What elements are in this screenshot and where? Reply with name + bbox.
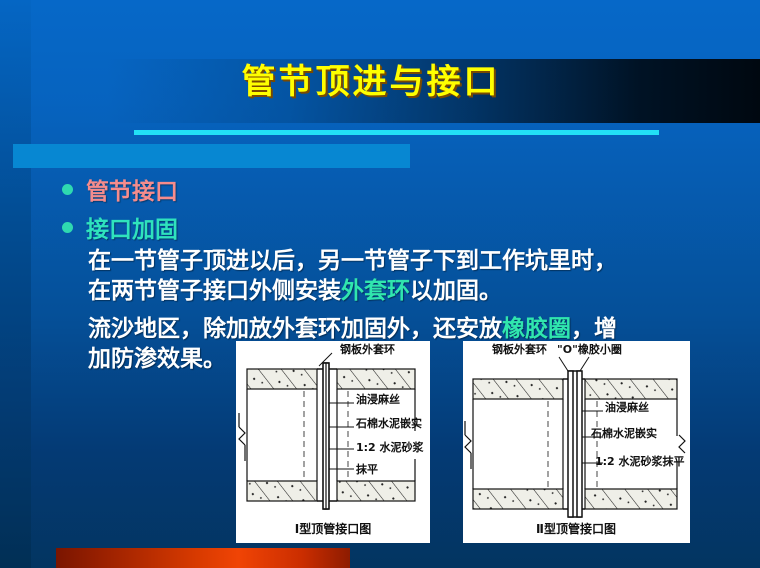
diagram-type-2-svg: 钢板外套环 "O"橡胶小圈 油浸麻丝 石棉水泥嵌实 1:2 水泥砂浆抹平 Ⅱ型顶… xyxy=(463,341,690,543)
title-underline-rule xyxy=(134,130,659,135)
label-asbestos-cement-caulk: 石棉水泥嵌实 xyxy=(590,426,657,440)
text-run: 加防渗效果。 xyxy=(88,346,226,372)
label-troweled-flat: 抹平 xyxy=(356,462,378,476)
bullet-label: 管节接口 xyxy=(86,172,178,206)
highlighted-term-outer-sleeve-ring: 外套环 xyxy=(341,278,410,304)
text-run: 在一节管子顶进以后，另一节管子下到工作坑里时， xyxy=(88,248,617,274)
bullet-item-joint-reinforcement: 接口加固 xyxy=(62,210,178,244)
paragraph-line: 流沙地区，除加放外套环加固外，还安放橡胶圈，增 xyxy=(88,314,617,344)
disc-bullet-icon xyxy=(62,184,73,195)
text-run: 流沙地区，除加放外套环加固外，还安放 xyxy=(88,316,502,342)
highlighted-term-rubber-ring: 橡胶圈 xyxy=(502,316,571,342)
concrete-pipe-wall-upper-left xyxy=(473,379,563,399)
concrete-pipe-wall-lower-left xyxy=(247,481,317,501)
presentation-slide: 管节顶进与接口 管节接口 接口加固 在一节管子顶进以后，另一节管子下到工作坑里时… xyxy=(0,0,760,568)
concrete-pipe-wall-upper-left xyxy=(247,369,317,389)
accent-bar xyxy=(13,144,410,168)
bullet-label: 接口加固 xyxy=(86,210,178,244)
paragraph-line: 在两节管子接口外侧安装外套环以加固。 xyxy=(88,276,617,306)
label-cement-mortar-troweled: 1:2 水泥砂浆抹平 xyxy=(595,454,685,468)
concrete-pipe-wall-upper-right xyxy=(585,379,677,399)
label-cement-mortar: 1:2 水泥砂浆 xyxy=(356,440,425,454)
concrete-pipe-wall-lower-left xyxy=(473,489,563,509)
label-steel-sleeve-ring: 钢板外套环 xyxy=(340,342,395,356)
diagram-type-1-svg: 钢板外套环 油浸麻丝 石棉水泥嵌实 1:2 水泥砂浆 抹平 Ⅰ型顶管接口图 xyxy=(236,341,430,543)
concrete-pipe-wall-lower-right xyxy=(585,489,677,509)
text-run: 在两节管子接口外侧安装 xyxy=(88,278,341,304)
body-paragraph-1: 在一节管子顶进以后，另一节管子下到工作坑里时， 在两节管子接口外侧安装外套环以加… xyxy=(88,246,617,306)
label-oil-soaked-hemp: 油浸麻丝 xyxy=(605,400,649,414)
label-asbestos-cement-caulk: 石棉水泥嵌实 xyxy=(355,416,422,430)
disc-bullet-icon xyxy=(62,222,73,233)
steel-sleeve-ring-shape xyxy=(323,363,329,509)
bullet-item-pipe-joint: 管节接口 xyxy=(62,172,178,206)
break-line-symbol-right xyxy=(679,435,685,453)
page-title: 管节顶进与接口 xyxy=(0,62,760,103)
text-run: 以加固。 xyxy=(410,278,502,304)
steel-sleeve-ring-shape xyxy=(568,371,573,517)
break-line-symbol xyxy=(465,421,471,469)
concrete-pipe-wall-upper-right xyxy=(337,369,415,389)
text-run: ，增 xyxy=(571,316,617,342)
break-line-symbol xyxy=(239,413,245,461)
diagram-type-2-pipe-joint: 钢板外套环 "O"橡胶小圈 油浸麻丝 石棉水泥嵌实 1:2 水泥砂浆抹平 Ⅱ型顶… xyxy=(463,341,690,543)
paragraph-line: 在一节管子顶进以后，另一节管子下到工作坑里时， xyxy=(88,246,617,276)
label-o-rubber-ring: "O"橡胶小圈 xyxy=(557,342,622,356)
diagram-caption-type-2: Ⅱ型顶管接口图 xyxy=(536,521,616,536)
o-rubber-ring-shape xyxy=(577,371,582,517)
diagram-type-1-pipe-joint: 钢板外套环 油浸麻丝 石棉水泥嵌实 1:2 水泥砂浆 抹平 Ⅰ型顶管接口图 xyxy=(236,341,430,543)
concrete-pipe-wall-lower-right xyxy=(337,481,415,501)
bottom-accent-bar xyxy=(56,548,350,568)
label-oil-soaked-hemp: 油浸麻丝 xyxy=(356,392,400,406)
label-steel-sleeve-ring: 钢板外套环 xyxy=(492,342,547,356)
diagram-caption-type-1: Ⅰ型顶管接口图 xyxy=(295,521,371,536)
